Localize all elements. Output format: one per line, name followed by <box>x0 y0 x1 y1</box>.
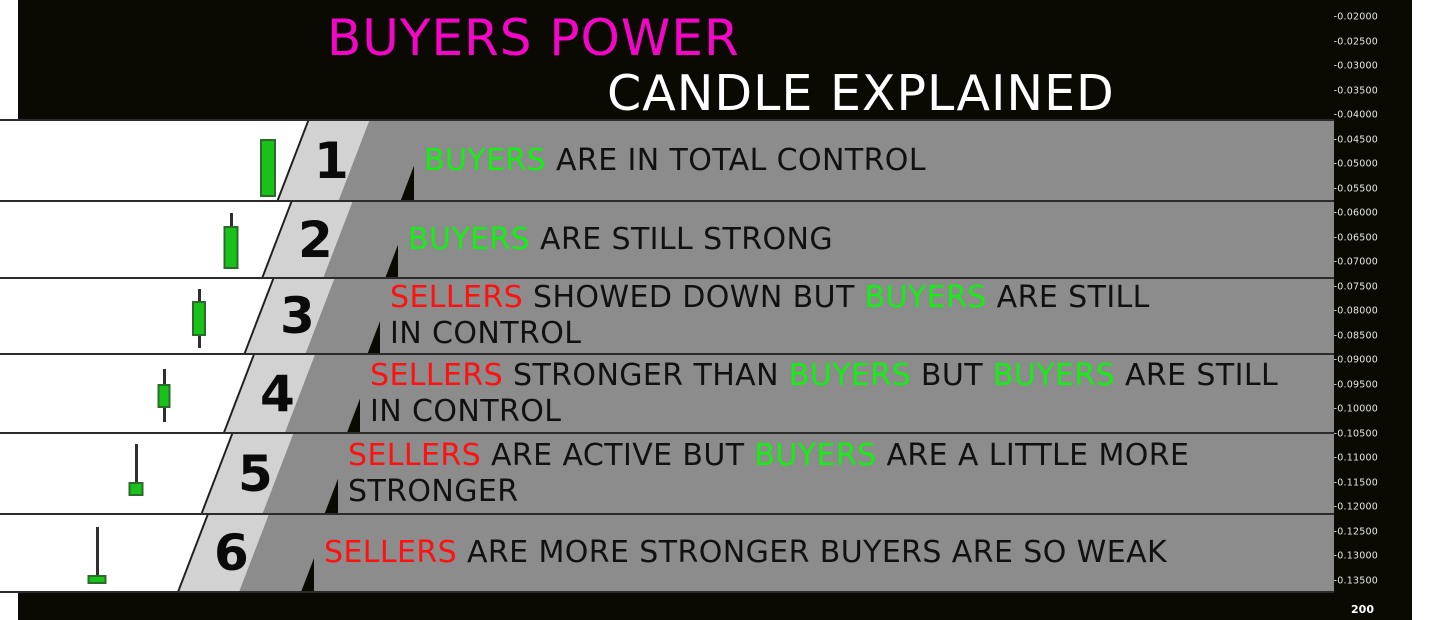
candle-explanation-table: 1BUYERS ARE IN TOTAL CONTROL2BUYERS ARE … <box>0 119 1334 593</box>
row-number: 3 <box>280 291 315 341</box>
candlestick-figure <box>248 121 288 200</box>
word-sellers: SELLERS <box>348 438 481 473</box>
candle-lower-wick <box>163 407 166 422</box>
row-description: SELLERS STRONGER THAN BUYERS BUT BUYERS … <box>370 358 1278 430</box>
page-subtitle: CANDLE EXPLAINED <box>607 68 1115 120</box>
row-content: 4SELLERS STRONGER THAN BUYERS BUT BUYERS… <box>0 355 1334 432</box>
word-buyers: BUYERS <box>754 438 876 473</box>
word-plain: IN CONTROL <box>390 316 581 351</box>
candlestick-figure <box>77 515 117 593</box>
axis-tick-label: -0.09000 <box>1334 355 1378 366</box>
row-number: 6 <box>214 528 249 578</box>
table-row[interactable]: 1BUYERS ARE IN TOTAL CONTROL <box>0 119 1334 200</box>
axis-tick-label: -0.03000 <box>1334 61 1378 72</box>
word-buyers: BUYERS <box>789 358 911 393</box>
row-content: 3SELLERS SHOWED DOWN BUT BUYERS ARE STIL… <box>0 279 1334 353</box>
axis-tick-label: -0.03500 <box>1334 85 1378 96</box>
candle-upper-wick <box>230 213 233 227</box>
table-row[interactable]: 4SELLERS STRONGER THAN BUYERS BUT BUYERS… <box>0 353 1334 432</box>
row-description-line: SELLERS ARE MORE STRONGER BUYERS ARE SO … <box>324 535 1167 571</box>
axis-tick-label: -0.02000 <box>1334 12 1378 23</box>
row-number: 5 <box>238 449 273 499</box>
row-number: 4 <box>260 369 295 419</box>
axis-tick-label: -0.11500 <box>1334 477 1378 488</box>
table-row[interactable]: 5SELLERS ARE ACTIVE BUT BUYERS ARE A LIT… <box>0 432 1334 513</box>
word-sellers: SELLERS <box>324 535 457 570</box>
word-plain: ARE STILL <box>1115 358 1278 393</box>
word-plain: STRONGER <box>348 474 519 509</box>
row-number: 2 <box>298 215 333 265</box>
table-row[interactable]: 3SELLERS SHOWED DOWN BUT BUYERS ARE STIL… <box>0 277 1334 353</box>
word-plain: ARE STILL STRONG <box>530 222 833 257</box>
candle-body <box>192 301 206 336</box>
axis-tick-label: -0.12500 <box>1334 526 1378 537</box>
word-plain: ARE A LITTLE MORE <box>877 438 1190 473</box>
row-number: 1 <box>314 136 349 186</box>
candle-upper-wick <box>163 369 166 385</box>
page-title: BUYERS POWER <box>327 12 740 64</box>
row-content: 2BUYERS ARE STILL STRONG <box>0 202 1334 277</box>
word-plain: STRONGER THAN <box>503 358 789 393</box>
word-buyers: BUYERS <box>993 358 1115 393</box>
axis-tick-label: -0.05500 <box>1334 183 1378 194</box>
candle-upper-wick <box>96 527 99 577</box>
word-plain: ARE MORE STRONGER BUYERS ARE SO WEAK <box>457 535 1167 570</box>
word-sellers: SELLERS <box>370 358 503 393</box>
row-description: SELLERS ARE ACTIVE BUT BUYERS ARE A LITT… <box>348 438 1189 510</box>
axis-tick-label: -0.09500 <box>1334 379 1378 390</box>
price-axis: -0.02000-0.02500-0.03000-0.03500-0.04000… <box>1336 0 1412 620</box>
row-content: 6SELLERS ARE MORE STRONGER BUYERS ARE SO… <box>0 515 1334 591</box>
row-content: 5SELLERS ARE ACTIVE BUT BUYERS ARE A LIT… <box>0 434 1334 513</box>
row-description: SELLERS SHOWED DOWN BUT BUYERS ARE STILL… <box>390 280 1150 352</box>
candle-body <box>260 139 276 197</box>
axis-tick-label: -0.08000 <box>1334 306 1378 317</box>
row-description-line: IN CONTROL <box>390 316 1150 352</box>
axis-tick-label: -0.06500 <box>1334 232 1378 243</box>
row-description-line: SELLERS ARE ACTIVE BUT BUYERS ARE A LITT… <box>348 438 1189 474</box>
row-description-line: STRONGER <box>348 474 1189 510</box>
candlestick-figure <box>116 434 156 513</box>
candle-body <box>129 482 144 496</box>
word-plain: SHOWED DOWN BUT <box>523 280 865 315</box>
row-content: 1BUYERS ARE IN TOTAL CONTROL <box>0 121 1334 200</box>
row-description-line: BUYERS ARE STILL STRONG <box>408 222 833 258</box>
axis-tick-label: -0.02500 <box>1334 36 1378 47</box>
row-description-line: SELLERS SHOWED DOWN BUT BUYERS ARE STILL <box>390 280 1150 316</box>
word-sellers: SELLERS <box>390 280 523 315</box>
axis-tick-label: -0.10000 <box>1334 404 1378 415</box>
candle-body <box>88 575 107 584</box>
axis-tick-label: -0.08500 <box>1334 330 1378 341</box>
axis-tick-label: -0.07500 <box>1334 281 1378 292</box>
axis-tick-label: -0.13000 <box>1334 551 1378 562</box>
axis-tick-label: -0.07000 <box>1334 257 1378 268</box>
candlestick-figure <box>211 202 251 277</box>
axis-tick-label: -0.13500 <box>1334 575 1378 586</box>
word-plain: BUT <box>911 358 993 393</box>
row-description-line: IN CONTROL <box>370 394 1278 430</box>
word-buyers: BUYERS <box>424 143 546 178</box>
axis-tick-label: -0.04500 <box>1334 134 1378 145</box>
axis-bar-count-label: 200 <box>1351 603 1374 616</box>
row-description-line: BUYERS ARE IN TOTAL CONTROL <box>424 143 926 179</box>
word-plain: IN CONTROL <box>370 394 561 429</box>
candlestick-figure <box>179 279 219 353</box>
table-row[interactable]: 2BUYERS ARE STILL STRONG <box>0 200 1334 277</box>
axis-tick-label: -0.11000 <box>1334 453 1378 464</box>
axis-tick-label: -0.05000 <box>1334 159 1378 170</box>
candle-lower-wick <box>198 336 201 348</box>
row-description-line: SELLERS STRONGER THAN BUYERS BUT BUYERS … <box>370 358 1278 394</box>
word-buyers: BUYERS <box>408 222 530 257</box>
axis-tick-label: -0.06000 <box>1334 208 1378 219</box>
word-plain: ARE ACTIVE BUT <box>481 438 754 473</box>
axis-tick-label: -0.12000 <box>1334 502 1378 513</box>
axis-tick-label: -0.10500 <box>1334 428 1378 439</box>
candlestick-figure <box>144 355 184 432</box>
word-plain: ARE STILL <box>987 280 1150 315</box>
candle-body <box>158 384 171 408</box>
word-buyers: BUYERS <box>865 280 987 315</box>
axis-tick-label: -0.04000 <box>1334 110 1378 121</box>
row-description: BUYERS ARE STILL STRONG <box>408 222 833 258</box>
right-margin-strip <box>1412 0 1430 620</box>
candle-body <box>224 226 239 269</box>
row-description: SELLERS ARE MORE STRONGER BUYERS ARE SO … <box>324 535 1167 571</box>
candle-upper-wick <box>135 444 138 484</box>
row-description: BUYERS ARE IN TOTAL CONTROL <box>424 143 926 179</box>
word-plain: ARE IN TOTAL CONTROL <box>546 143 926 178</box>
table-row[interactable]: 6SELLERS ARE MORE STRONGER BUYERS ARE SO… <box>0 513 1334 593</box>
